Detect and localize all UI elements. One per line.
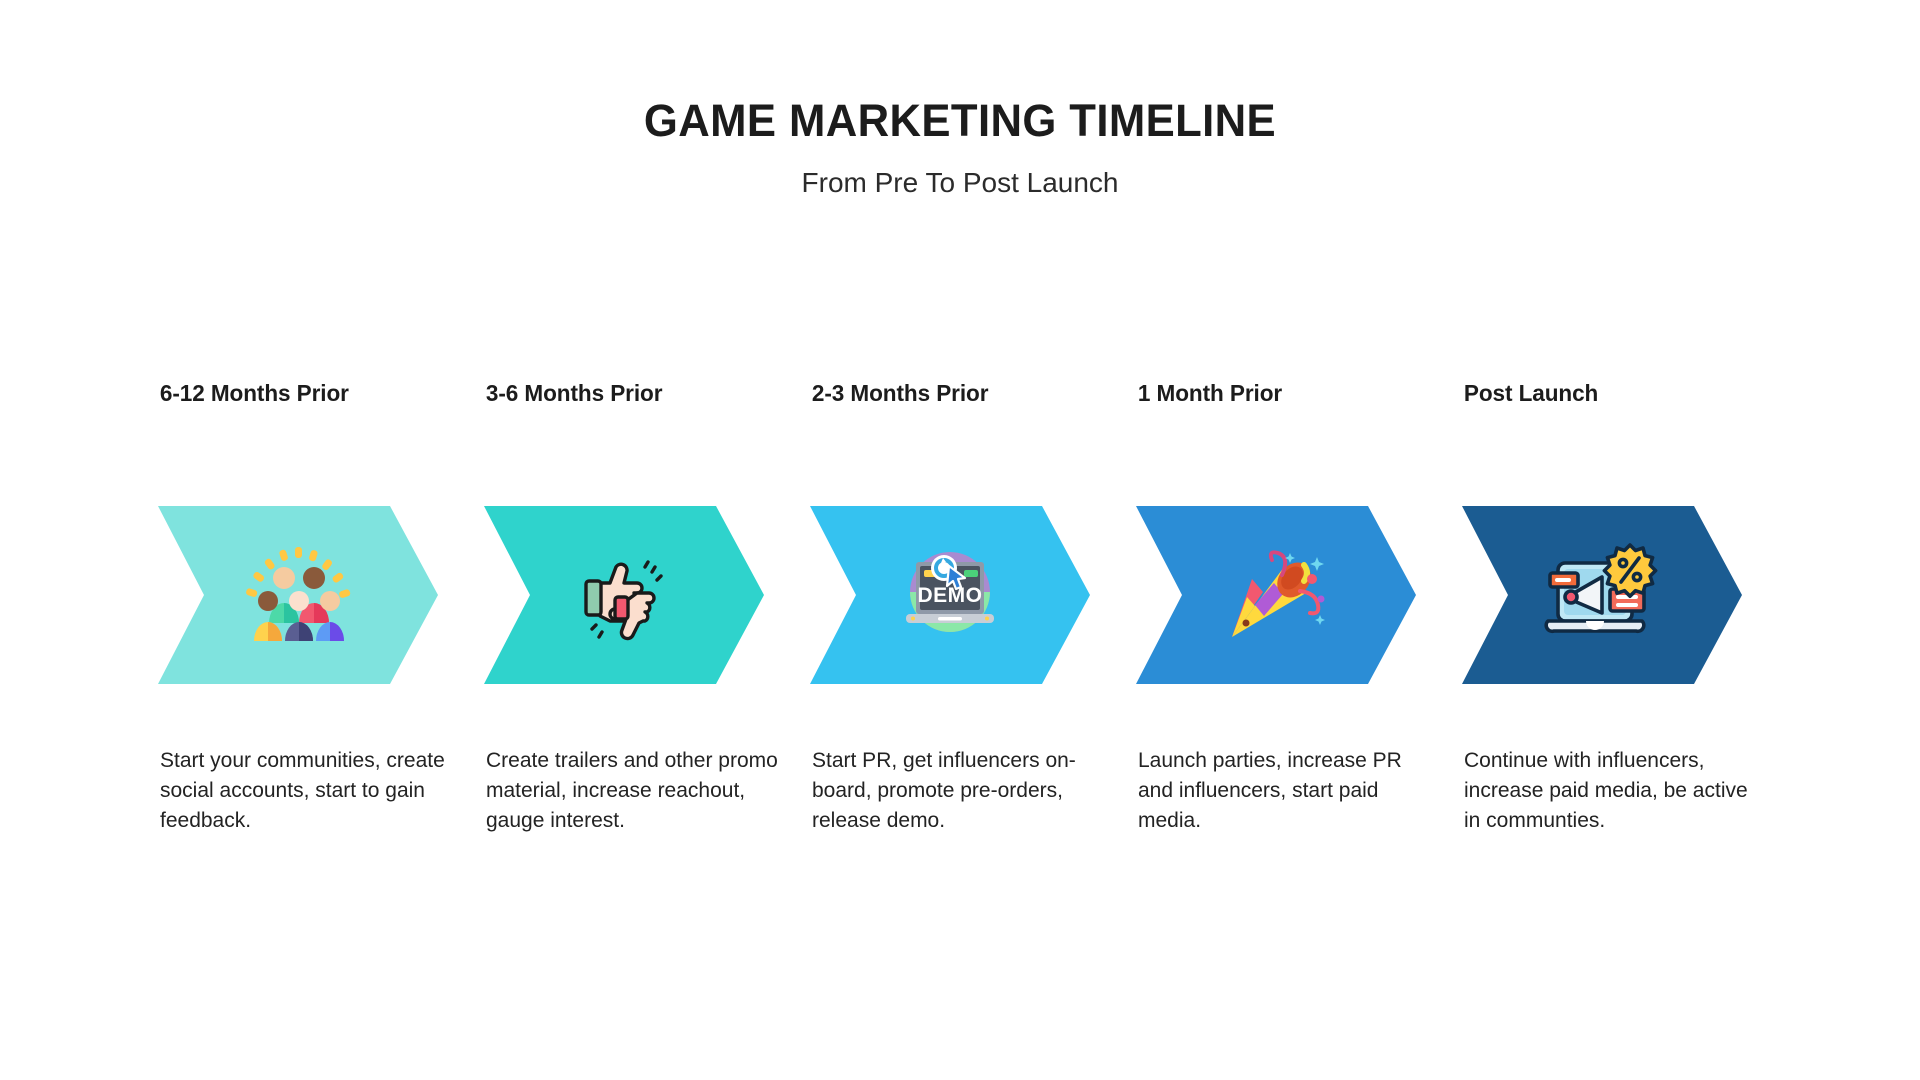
stage-body: Start PR, get influencers on-board, prom…	[810, 746, 1112, 837]
stage-chevron-banner[interactable]: DEMO	[810, 506, 1136, 684]
stage-body: Continue with influencers, increase paid…	[1462, 746, 1764, 837]
stage-chevron-banner[interactable]	[484, 506, 810, 684]
stage-body: Start your communities, create social ac…	[158, 746, 460, 837]
timeline-stage-1: 6-12 Months Prior	[158, 380, 484, 837]
stage-heading: 6-12 Months Prior	[158, 380, 471, 407]
stage-chevron-banner[interactable]	[1462, 506, 1788, 684]
page-header: GAME MARKETING TIMELINE From Pre To Post…	[0, 0, 1920, 198]
page-subtitle: From Pre To Post Launch	[0, 146, 1920, 199]
chevron-polygon	[1136, 506, 1416, 684]
chevron-polygon	[810, 506, 1090, 684]
timeline-stage-2: 3-6 Months Prior	[484, 380, 810, 837]
stage-body: Create trailers and other promo material…	[484, 746, 786, 837]
stage-chevron-banner[interactable]	[158, 506, 484, 684]
timeline-stage-5: Post Launch	[1462, 380, 1788, 837]
chevron-shape	[484, 506, 810, 684]
stage-chevron-banner[interactable]	[1136, 506, 1462, 684]
timeline-stage-4: 1 Month Prior	[1136, 380, 1462, 837]
chevron-shape	[1462, 506, 1788, 684]
chevron-shape	[1136, 506, 1462, 684]
chevron-shape	[810, 506, 1136, 684]
timeline-container: 6-12 Months Prior	[158, 380, 1788, 837]
chevron-polygon	[484, 506, 764, 684]
stage-heading: 2-3 Months Prior	[810, 380, 1123, 407]
stage-heading: 1 Month Prior	[1136, 380, 1449, 407]
chevron-shape	[158, 506, 484, 684]
stage-heading: 3-6 Months Prior	[484, 380, 797, 407]
stage-heading: Post Launch	[1462, 380, 1775, 407]
page-title: GAME MARKETING TIMELINE	[29, 96, 1891, 146]
timeline-stage-3: 2-3 Months Prior DEMO	[810, 380, 1136, 837]
chevron-polygon	[1462, 506, 1742, 684]
chevron-polygon	[158, 506, 438, 684]
stage-body: Launch parties, increase PR and influenc…	[1136, 746, 1438, 837]
